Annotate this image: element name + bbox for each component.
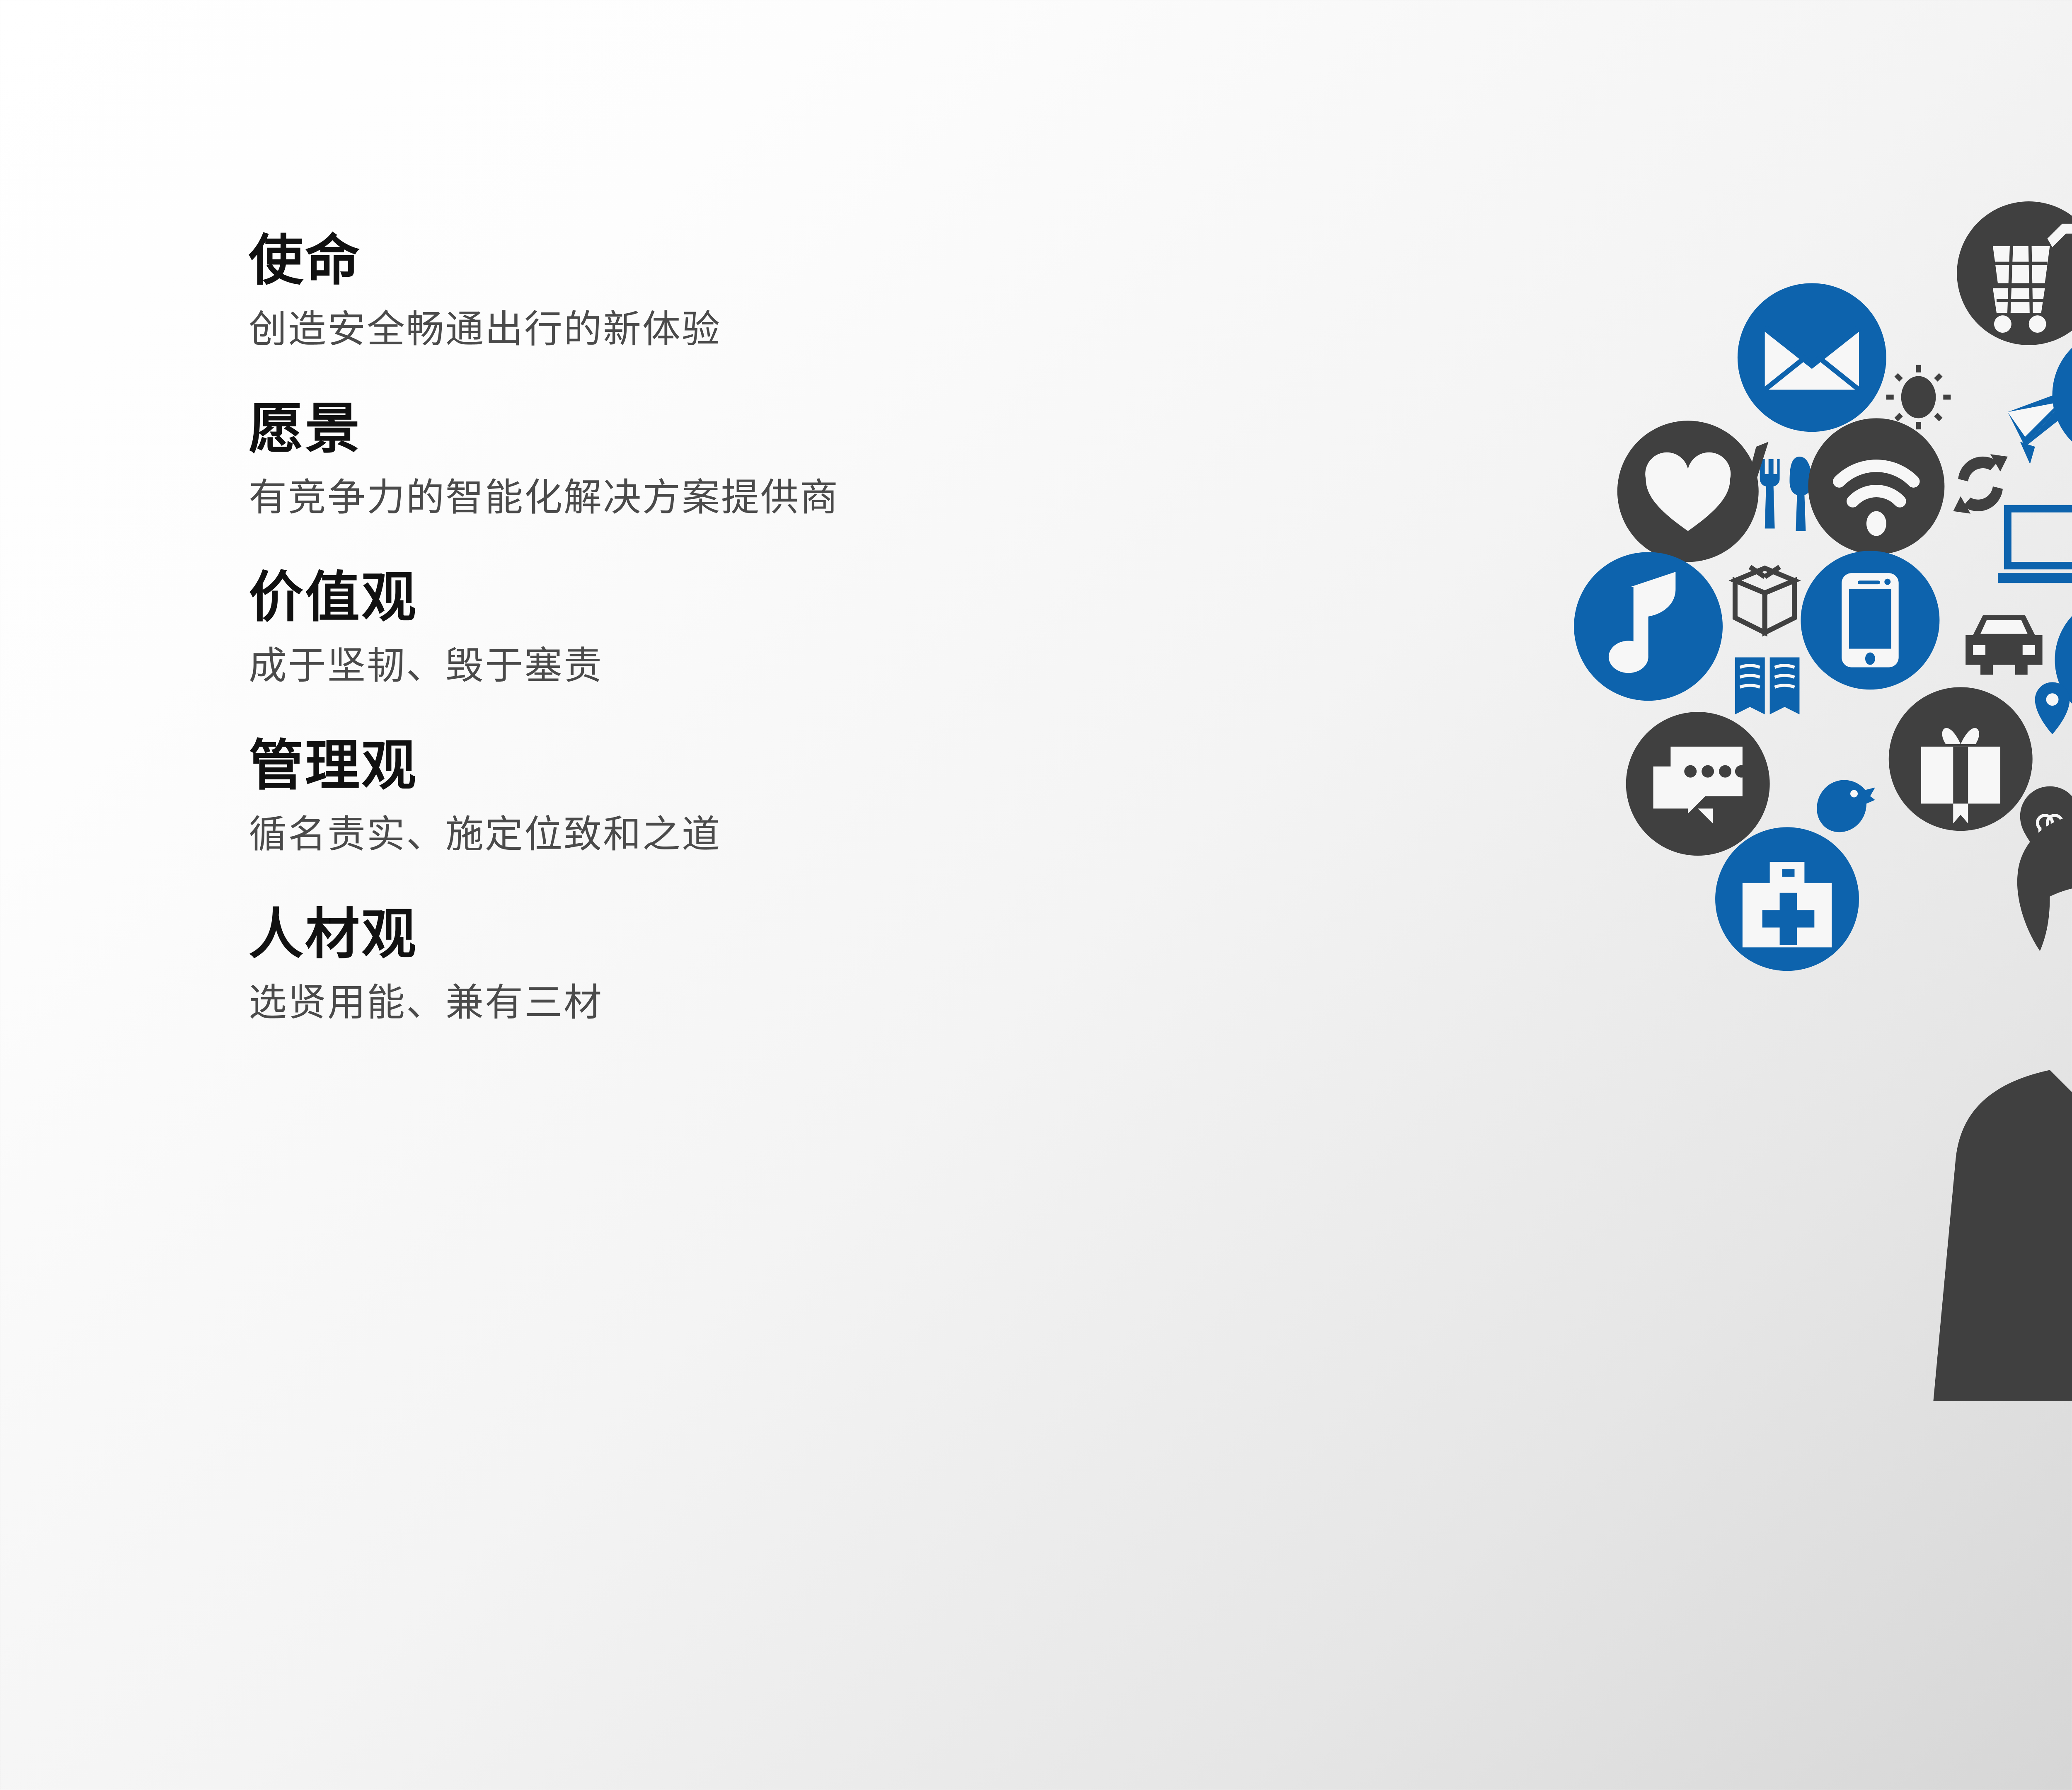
fork-knife-icon bbox=[1760, 457, 1812, 531]
briefcase-medical-icon bbox=[1715, 827, 1859, 971]
wifi-icon bbox=[1808, 418, 1944, 554]
value-title: 价值观 bbox=[249, 569, 1326, 626]
gift-icon bbox=[1889, 687, 2033, 831]
shopping-cart-icon bbox=[1957, 201, 2072, 345]
value-title: 使命 bbox=[249, 232, 1326, 290]
smartphone-icon bbox=[1801, 551, 1939, 689]
car-icon bbox=[1965, 615, 2042, 675]
laptop-icon bbox=[1998, 509, 2072, 583]
icon-cloud-illustration bbox=[1500, 199, 2072, 1525]
music-note-icon bbox=[1574, 552, 1723, 701]
envelope-icon bbox=[1738, 283, 1886, 432]
bird-small-icon bbox=[1817, 780, 1875, 832]
heart-icon bbox=[1617, 421, 1759, 562]
speaker-icon bbox=[2053, 329, 2072, 460]
value-block-vision: 愿景 有竞争力的智能化解决方案提供商 bbox=[249, 400, 1326, 520]
value-description: 选贤用能、兼有三材 bbox=[249, 981, 1326, 1025]
map-pin-lower-icon bbox=[2035, 682, 2070, 734]
value-description: 创造安全畅通出行的新体验 bbox=[249, 308, 1326, 352]
refresh-icon bbox=[1953, 454, 2008, 514]
value-block-core-values: 价值观 成于坚韧、毁于塞责 bbox=[249, 569, 1326, 688]
open-box-icon bbox=[1735, 567, 1795, 633]
value-title: 管理观 bbox=[249, 737, 1326, 795]
values-list: 使命 创造安全畅通出行的新体验 愿景 有竞争力的智能化解决方案提供商 价值观 成… bbox=[249, 232, 1326, 1025]
value-block-management: 管理观 循名责实、施定位致和之道 bbox=[249, 737, 1326, 856]
person-silhouette bbox=[1933, 810, 2072, 1401]
value-description: 成于坚韧、毁于塞责 bbox=[249, 644, 1326, 688]
value-block-talent: 人材观 选贤用能、兼有三材 bbox=[249, 906, 1326, 1025]
value-title: 人材观 bbox=[249, 906, 1326, 963]
chat-dots-icon bbox=[1626, 712, 1770, 856]
value-block-mission: 使命 创造安全畅通出行的新体验 bbox=[249, 232, 1326, 351]
value-title: 愿景 bbox=[249, 400, 1326, 458]
value-description: 有竞争力的智能化解决方案提供商 bbox=[249, 476, 1326, 520]
sun-icon bbox=[1886, 365, 1951, 430]
book-icon bbox=[1735, 658, 1800, 715]
value-description: 循名责实、施定位致和之道 bbox=[249, 813, 1326, 857]
